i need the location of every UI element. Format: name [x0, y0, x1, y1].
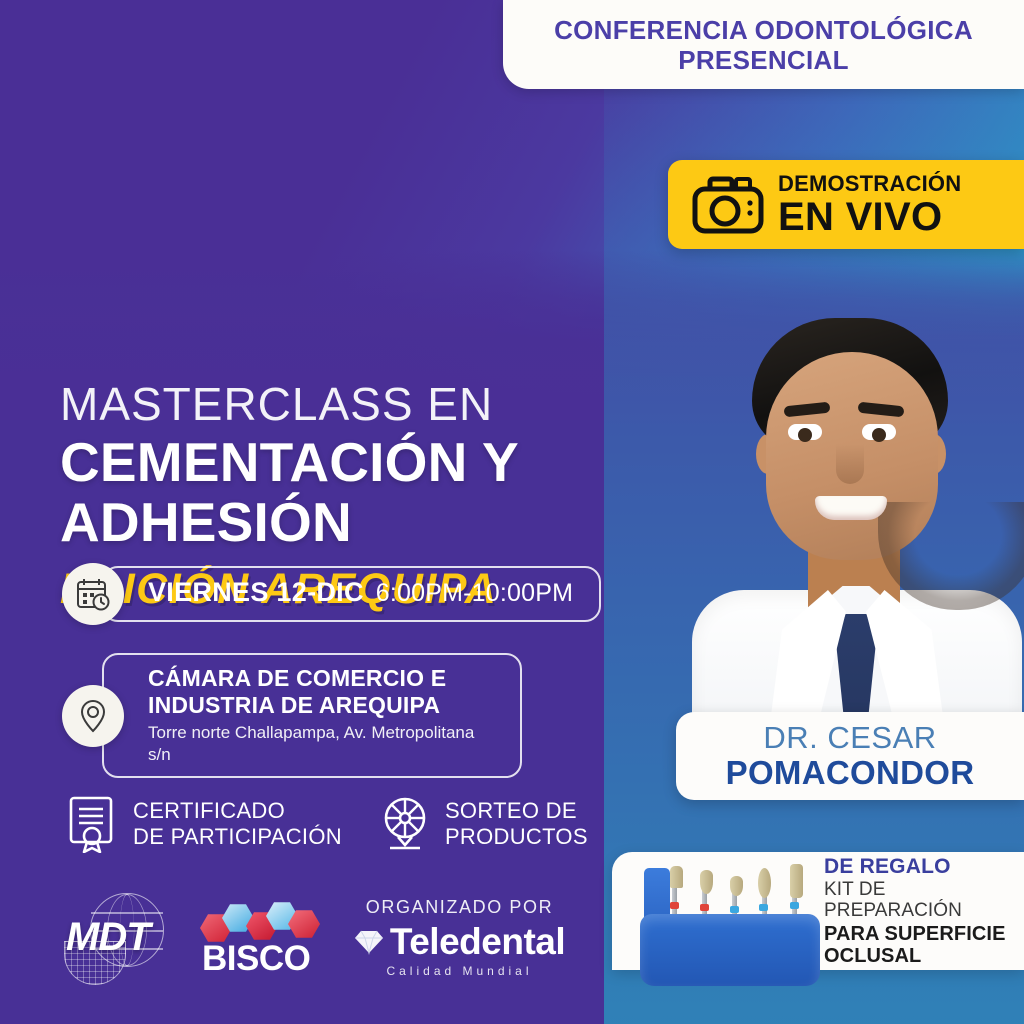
benefits-row: CERTIFICADO DE PARTICIPACIÓN SORTEO DE P — [66, 795, 588, 853]
eye-left — [788, 424, 822, 440]
smile — [815, 496, 887, 520]
benefit-certificate-line-1: CERTIFICADO — [133, 798, 342, 824]
venue-address: Torre norte Challapampa, Av. Metropolita… — [148, 722, 494, 766]
benefit-certificate-line-2: DE PARTICIPACIÓN — [133, 824, 342, 850]
conference-header-panel: CONFERENCIA ODONTOLÓGICA PRESENCIAL — [503, 0, 1024, 89]
logo-teledental-tagline: Calidad Mundial — [352, 964, 567, 978]
speaker-name: POMACONDOR — [726, 755, 975, 791]
date-icon-circle — [62, 563, 124, 625]
logo-teledental: ORGANIZADO POR Teledental Calidad Mundia… — [352, 897, 567, 985]
venue-line-1: CÁMARA DE COMERCIO E — [148, 665, 494, 692]
eye-right — [862, 424, 896, 440]
pretitle: MASTERCLASS EN — [60, 378, 780, 430]
gift-line-3: PARA SUPERFICIE — [824, 923, 1024, 945]
certificate-icon — [66, 795, 120, 853]
gift-line-4: OCLUSAL — [824, 945, 1024, 967]
venue-line-2: INDUSTRIA DE AREQUIPA — [148, 692, 494, 719]
benefit-raffle-line-1: SORTEO DE — [445, 798, 588, 824]
date-pill-body: VIERNES 12-DIC 6:00PM-10:00PM — [102, 566, 601, 622]
logo-bisco-text: BISCO — [202, 939, 310, 979]
logo-mdt: MDT — [62, 893, 172, 985]
benefit-raffle-line-2: PRODUCTOS — [445, 824, 588, 850]
diamond-icon — [354, 929, 384, 955]
sponsor-logos-row: MDT BISCO ORGANIZADO POR Teledental Cal — [62, 893, 567, 985]
camera-icon — [692, 175, 764, 235]
location-pin-icon — [76, 697, 110, 735]
dental-bur-kit-icon — [634, 858, 830, 988]
venue-pill: CÁMARA DE COMERCIO E INDUSTRIA DE AREQUI… — [62, 653, 522, 778]
gift-line-2: KIT DE PREPARACIÓN — [824, 880, 1024, 922]
event-time: 6:00PM-10:00PM — [376, 579, 573, 608]
venue-pill-body: CÁMARA DE COMERCIO E INDUSTRIA DE AREQUI… — [102, 653, 522, 778]
event-day: VIERNES 12-DIC — [148, 577, 364, 608]
logo-teledental-text: Teledental — [390, 921, 565, 963]
header-line-2: PRESENCIAL — [678, 45, 849, 75]
venue-icon-circle — [62, 685, 124, 747]
organized-by-label: ORGANIZADO POR — [352, 897, 567, 918]
main-title: CEMENTACIÓN Y ADHESIÓN — [60, 432, 780, 552]
gift-line-1: DE REGALO — [824, 855, 1024, 878]
speaker-title: DR. CESAR — [763, 721, 936, 755]
live-demo-badge: DEMOSTRACIÓN EN VIVO — [668, 160, 1024, 249]
hexagon-cluster-icon — [200, 899, 326, 941]
header-line-1: CONFERENCIA ODONTOLÓGICA — [554, 15, 973, 45]
date-pill: VIERNES 12-DIC 6:00PM-10:00PM — [62, 563, 601, 625]
nose — [836, 444, 864, 484]
gift-panel: DE REGALO KIT DE PREPARACIÓN PARA SUPERF… — [612, 852, 1024, 970]
speaker-nameplate: DR. CESAR POMACONDOR — [676, 712, 1024, 800]
benefit-certificate: CERTIFICADO DE PARTICIPACIÓN — [66, 795, 342, 853]
benefit-raffle: SORTEO DE PRODUCTOS — [378, 795, 588, 853]
calendar-clock-icon — [75, 576, 111, 612]
logo-bisco: BISCO — [198, 899, 326, 985]
live-badge-line-2: EN VIVO — [778, 197, 961, 237]
logo-mdt-text: MDT — [66, 915, 150, 960]
live-badge-line-1: DEMOSTRACIÓN — [778, 173, 961, 195]
raffle-wheel-icon — [378, 795, 432, 853]
poster-canvas: CONFERENCIA ODONTOLÓGICA PRESENCIAL DEMO… — [0, 0, 1024, 1024]
